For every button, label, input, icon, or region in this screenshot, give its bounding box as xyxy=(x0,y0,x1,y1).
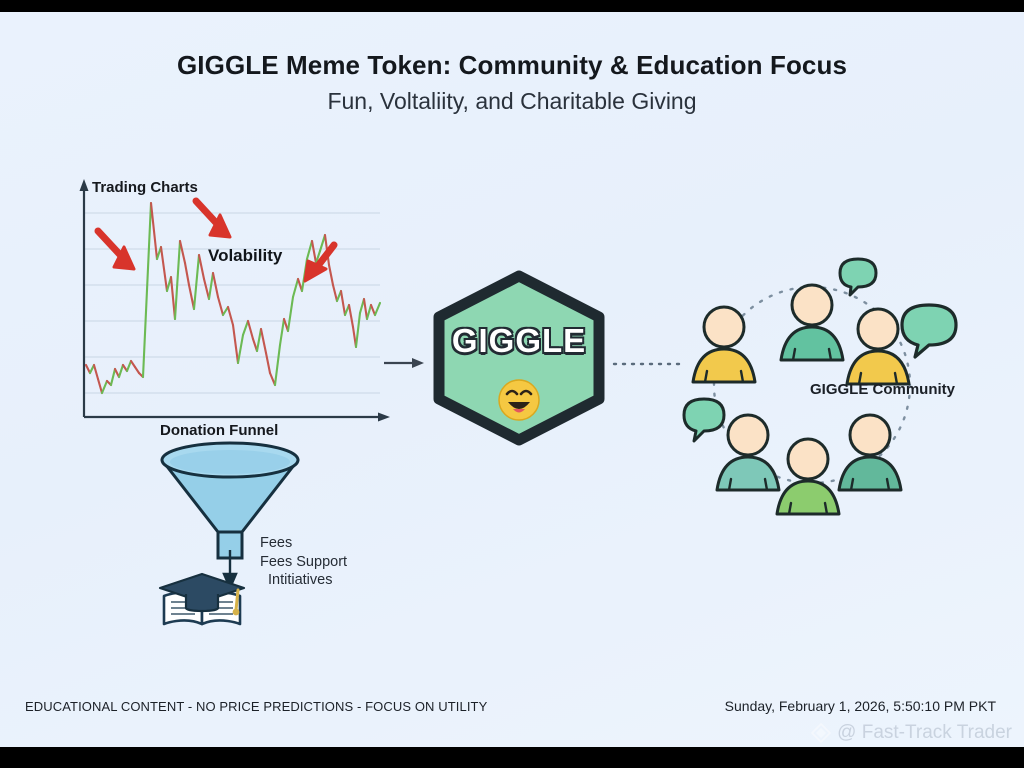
person-icon xyxy=(717,415,779,490)
screenshot-stage: GIGGLE Meme Token: Community & Education… xyxy=(0,0,1024,768)
page-subtitle: Fun, Voltaliity, and Charitable Giving xyxy=(0,88,1024,115)
person-icon xyxy=(693,307,755,382)
trading-chart-panel: Trading Charts Volability xyxy=(62,167,392,432)
trading-chart-svg xyxy=(62,167,392,432)
chart-label-volatility: Volability xyxy=(208,246,282,266)
letterbox-top xyxy=(0,0,1024,12)
chart-axes xyxy=(84,185,384,417)
token-name: GIGGLE xyxy=(424,322,614,360)
speech-bubble-icon xyxy=(840,259,876,295)
person-icon xyxy=(847,309,909,384)
chart-label-trading-charts: Trading Charts xyxy=(92,179,198,196)
letterbox-bottom xyxy=(0,747,1024,768)
watermark: @ Fast-Track Trader xyxy=(811,722,1012,744)
fees-line-2: Fees Support xyxy=(260,553,347,572)
fees-note: Fees Fees Support Intitiatives xyxy=(260,534,347,590)
speech-bubble-icon xyxy=(902,305,956,357)
donation-funnel-panel: Donation Funnel xyxy=(140,412,400,637)
person-icon xyxy=(839,415,901,490)
fees-line-1: Fees xyxy=(260,534,347,553)
funnel-icon xyxy=(140,412,340,627)
grinning-face-emoji xyxy=(497,378,541,422)
community-label: GIGGLE Community xyxy=(810,381,955,398)
footer-timestamp: Sunday, February 1, 2026, 5:50:10 PM PKT xyxy=(725,698,996,714)
arrow-right-icon xyxy=(382,350,428,376)
diamond-logo-icon xyxy=(811,723,831,743)
person-icon xyxy=(777,439,839,514)
page-title: GIGGLE Meme Token: Community & Education… xyxy=(0,50,1024,81)
fees-line-3: Intitiatives xyxy=(260,571,347,590)
watermark-text: @ Fast-Track Trader xyxy=(837,722,1012,744)
community-panel: GIGGLE Community xyxy=(662,257,962,522)
chart-y-axis-arrowhead xyxy=(80,179,89,191)
speech-bubble-icon xyxy=(684,399,724,441)
slide-canvas: GIGGLE Meme Token: Community & Education… xyxy=(0,12,1024,747)
person-icon xyxy=(781,285,843,360)
giggle-token[interactable]: GIGGLE xyxy=(424,270,614,446)
chart-series-price xyxy=(86,203,380,393)
funnel-title: Donation Funnel xyxy=(160,422,278,439)
footer-disclaimer: EDUCATIONAL CONTENT - NO PRICE PREDICTIO… xyxy=(25,699,487,714)
